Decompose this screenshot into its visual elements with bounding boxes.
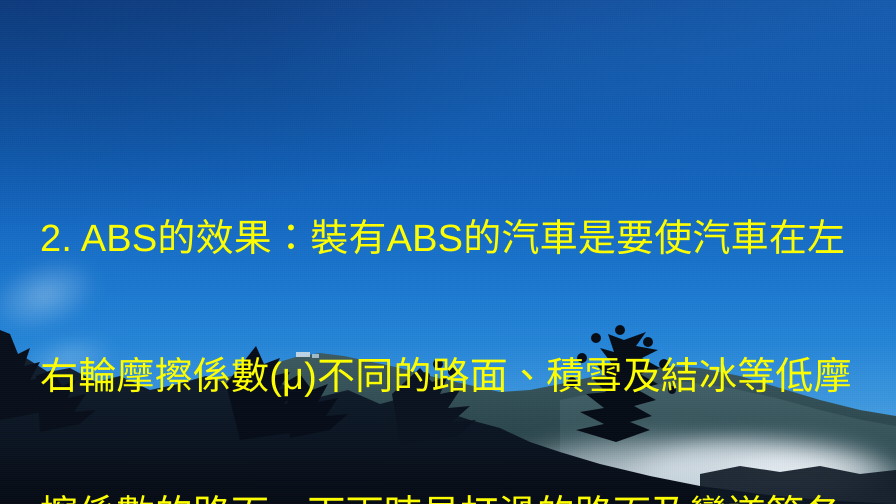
presentation-slide: 2. ABS的效果：裝有ABS的汽車是要使汽車在左 右輪摩擦係數(μ)不同的路面… bbox=[0, 0, 896, 504]
photo-grain-overlay bbox=[0, 0, 896, 504]
